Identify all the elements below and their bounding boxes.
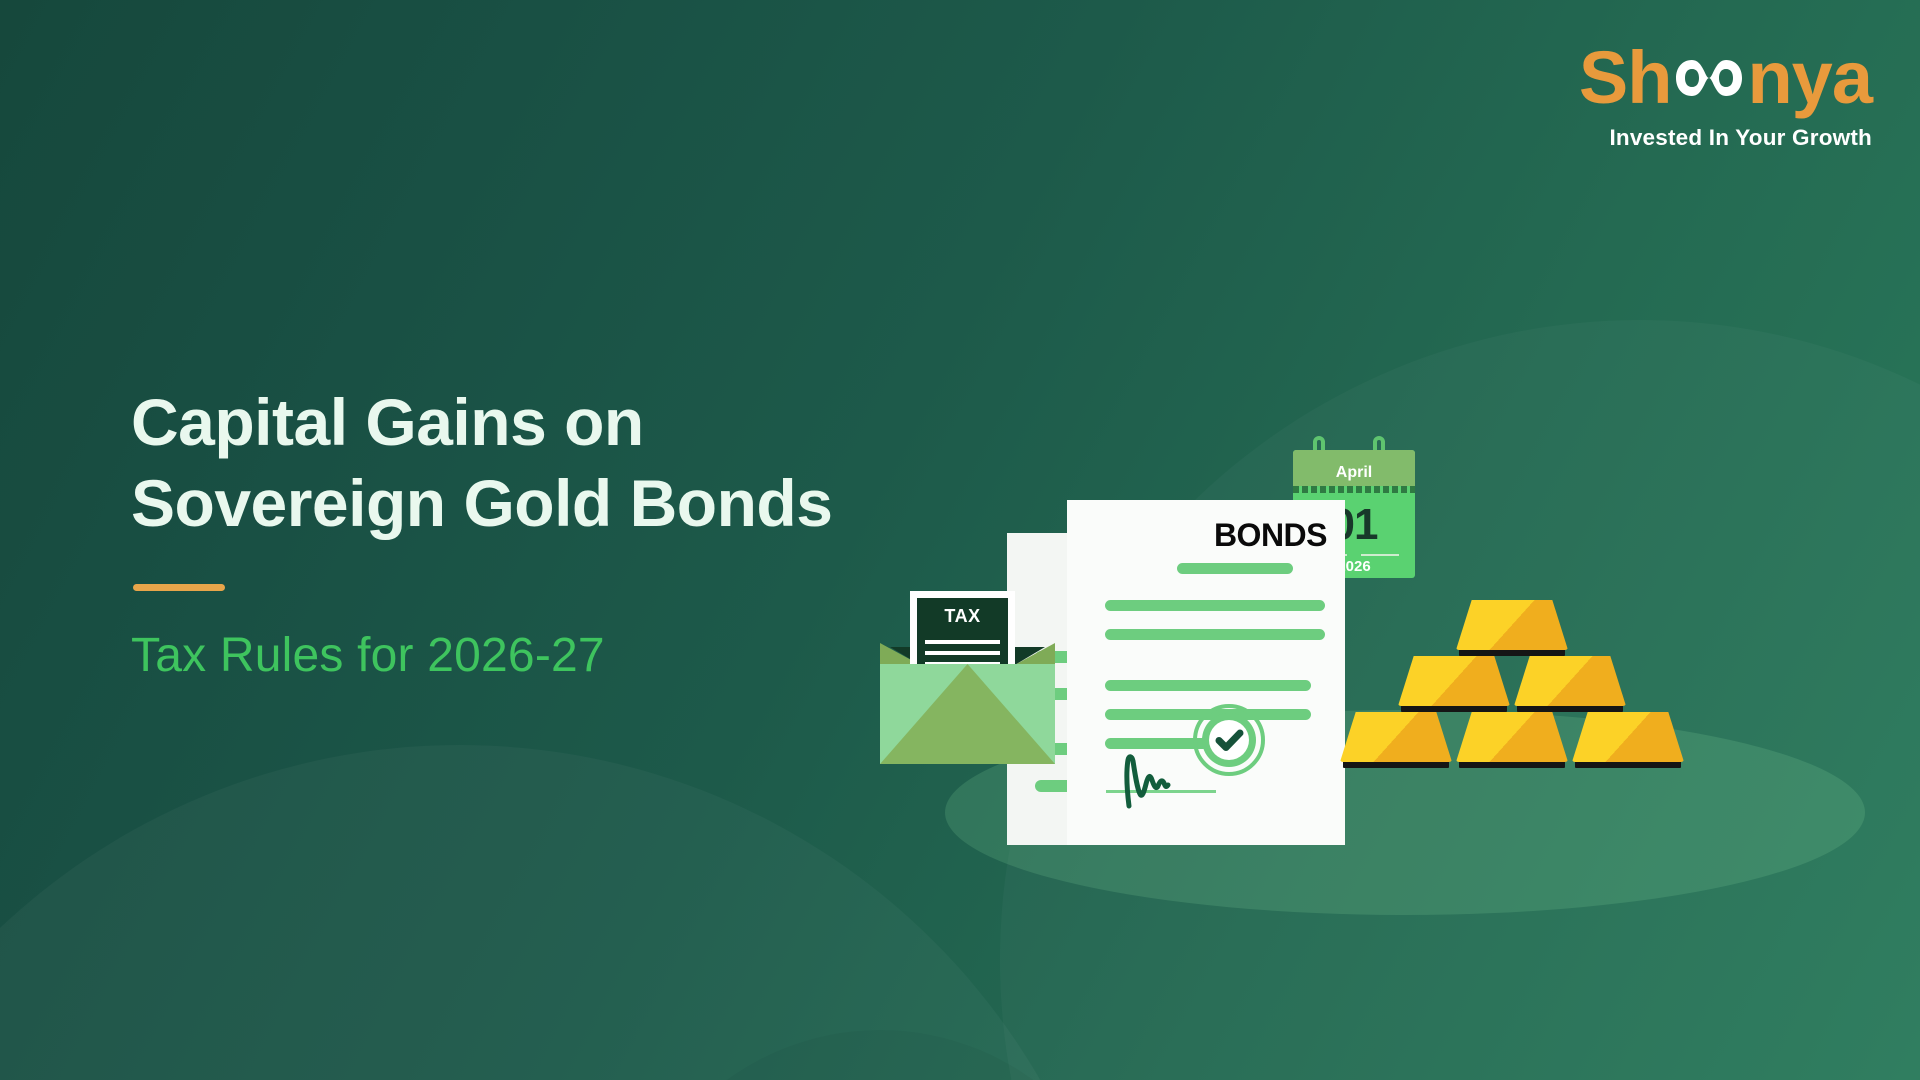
brand-name-part1: Sh: [1579, 41, 1672, 115]
brand-name-part2: nya: [1747, 41, 1872, 115]
document-text-line: [1177, 563, 1293, 574]
gold-bar: [1456, 712, 1568, 768]
verified-check-icon: [1192, 703, 1266, 777]
gold-bar: [1514, 656, 1626, 712]
signature-icon: [1111, 750, 1201, 810]
document-text-line: [1105, 600, 1325, 611]
gold-bar: [1340, 712, 1452, 768]
infinity-icon: [1672, 54, 1746, 102]
hero-illustration: April 01 2026 BONDS: [955, 455, 1885, 925]
gold-bar: [1398, 656, 1510, 712]
calendar-header: April: [1293, 450, 1415, 486]
calendar-perforation: [1293, 486, 1415, 493]
brand-wordmark: Sh nya: [1579, 38, 1872, 118]
document-text-line: [1105, 629, 1325, 640]
gold-bar: [1572, 712, 1684, 768]
page-title: Capital Gains on Sovereign Gold Bonds: [131, 382, 1091, 543]
calendar-month: April: [1336, 464, 1372, 482]
tax-label: TAX: [917, 606, 1008, 627]
gold-bars-icon: [1340, 600, 1685, 780]
brand-logo[interactable]: Sh nya Invested In Your Growth: [1579, 38, 1872, 150]
page-title-line-2: Sovereign Gold Bonds: [131, 463, 1091, 544]
title-divider: [133, 584, 225, 591]
brand-tagline: Invested In Your Growth: [1579, 127, 1872, 150]
banner-stage: Sh nya Invested In Your Growth Capital G…: [0, 0, 1920, 1080]
envelope-icon: TAX: [880, 629, 1055, 764]
gold-bar: [1456, 600, 1568, 656]
page-title-line-1: Capital Gains on: [131, 385, 644, 459]
bonds-document-heading: BONDS: [1214, 517, 1327, 554]
bonds-document: BONDS: [1067, 500, 1345, 845]
document-text-line: [1105, 680, 1311, 691]
